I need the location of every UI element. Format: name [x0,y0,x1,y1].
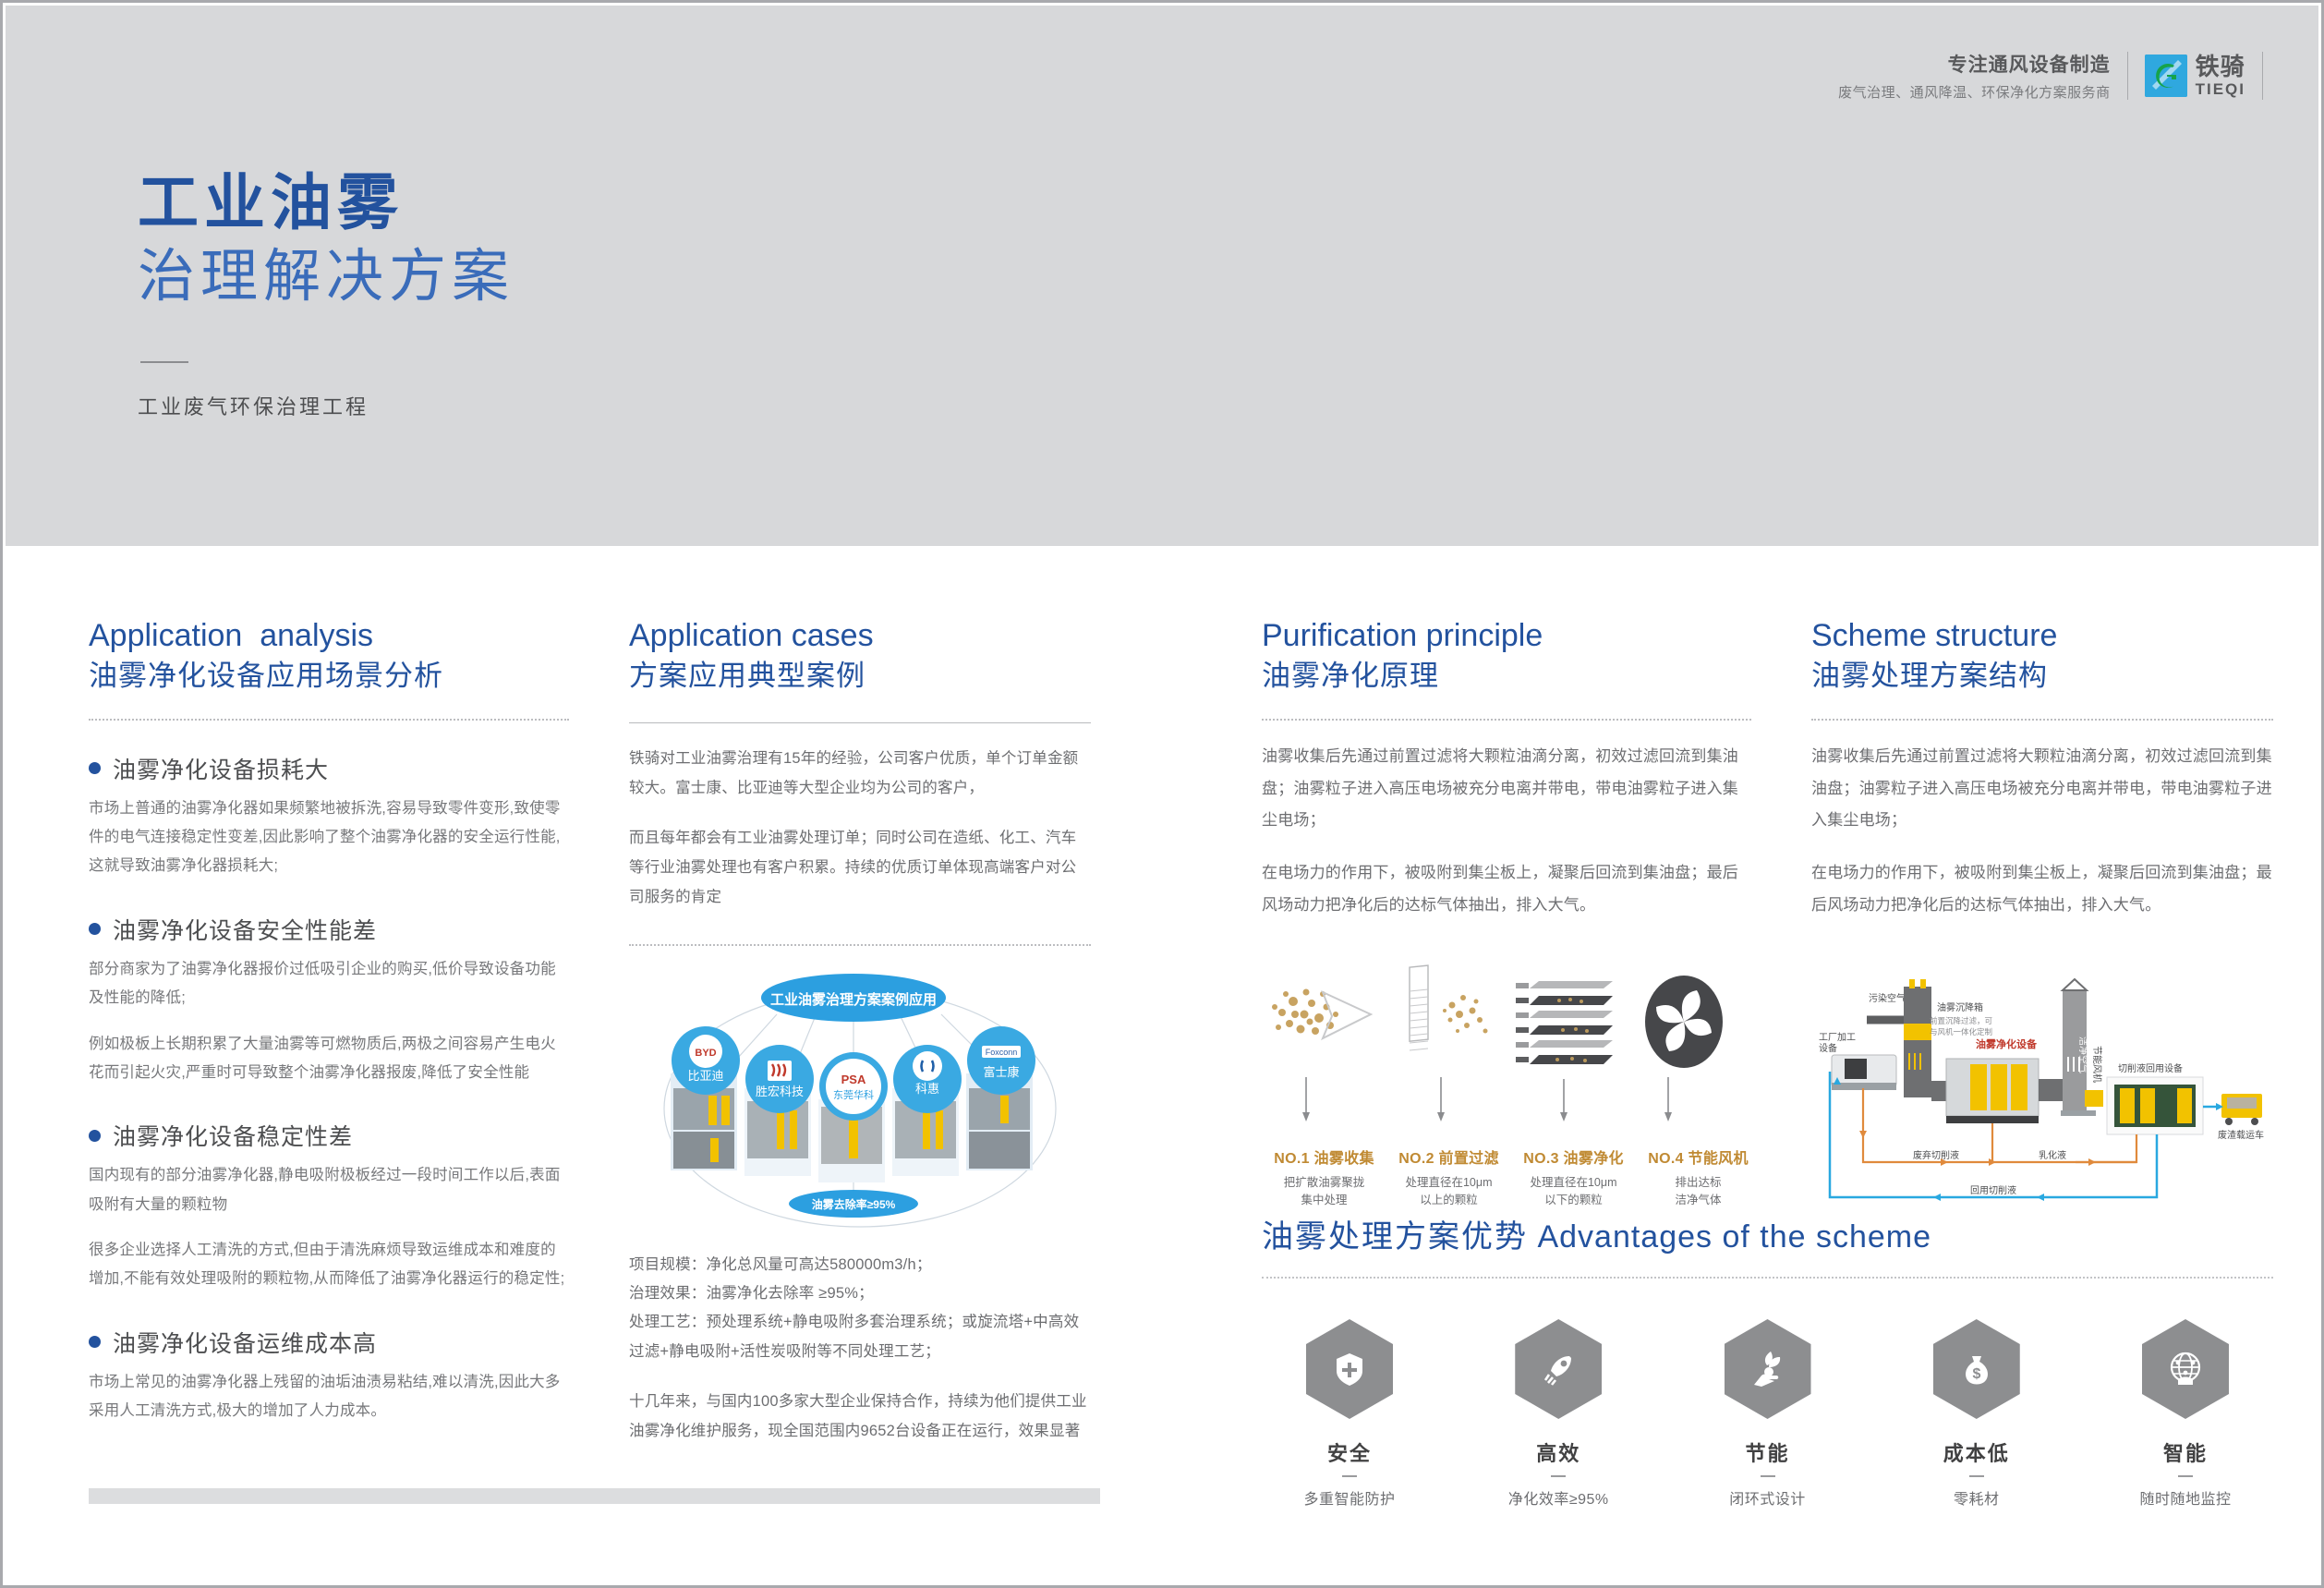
advantage-divider [1969,1475,1984,1477]
svg-text:节能风机: 节能风机 [2091,1046,2103,1083]
logo-name-cn: 铁骑 [2196,55,2245,79]
section2-heading: Application cases 方案应用典型案例 [629,546,1091,695]
advantage-hex-wrap [1262,1319,1437,1419]
bullet-paragraph: 部分商家为了油雾净化器报价过低吸引企业的购买,低价导致设备功能及性能的降低; [89,955,569,1013]
advantage-hex-wrap [2098,1319,2273,1419]
brand-tagline-main: 专注通风设备制造 [1838,50,2111,78]
section1-title-cn: 油雾净化设备应用场景分析 [89,658,569,695]
case-closing-paragraph: 十几年来，与国内100多家大型企业保持合作，持续为他们提供工业油雾净化维护服务，… [629,1387,1091,1446]
case-spec-line: 治理效果：油雾净化去除率 ≥95%； [629,1279,1091,1308]
cases-intro-paragraph: 而且每年都会有工业油雾处理订单；同时公司在造纸、化工、汽车等行业油雾处理也有客户… [629,823,1091,913]
step-label: NO.4 节能风机 排出达标 洁净气体 [1636,1146,1761,1210]
advantages-list: 安全 多重智能防护 高效 [1262,1319,2273,1509]
advantages-title-en: Advantages of the scheme [1537,1219,1931,1255]
mist-cloud [1272,989,1371,1039]
svg-text:油雾沉降箱: 油雾沉降箱 [1937,1001,1983,1013]
advantage-divider [1342,1475,1357,1477]
svg-text:富士康: 富士康 [983,1065,1019,1079]
company-logo: 铁骑 TIEQI [2145,55,2245,97]
step-desc-line: 排出达标 [1636,1174,1761,1192]
svg-text:油雾净化设备: 油雾净化设备 [1976,1037,2038,1050]
section3-heading: Purification principle 油雾净化原理 [1262,546,1751,695]
tieqi-logo-icon [2145,55,2187,97]
section-application-analysis: Application analysis 油雾净化设备应用场景分析 油雾净化设备… [89,546,569,1425]
scheme-flow-diagram: 污染空气 工厂加工 设备 [1811,953,2273,1207]
svg-text:回用切削液: 回用切削液 [1970,1184,2016,1196]
case-circle-diagram: 工业油雾治理方案案例应用 BYD 比亚迪 胜宏科技 PSA 东莞华科 [629,970,1091,1238]
section3-title-en: Purification principle [1262,616,1751,656]
bullet-dot-icon [89,1336,101,1348]
bullet-dot-icon [89,762,101,774]
analysis-bullet: 油雾净化设备安全性能差 部分商家为了油雾净化器报价过低吸引企业的购买,低价导致设… [89,913,569,1087]
advantage-hex [1306,1319,1393,1419]
advantage-item: 节能 闭环式设计 [1680,1319,1856,1509]
step-label: NO.2 前置过滤 处理直径在10μm 以上的颗粒 [1386,1146,1511,1210]
section2-title-en: Application cases [629,616,1091,656]
svg-text:BYD: BYD [695,1048,716,1059]
bullet-paragraph: 很多企业选择人工清洗的方式,但由于清洗麻烦导致运维成本和难度的增加,不能有效处理… [89,1236,569,1294]
shield-plus-icon [1329,1349,1370,1389]
advantage-hex [1515,1319,1602,1419]
advantage-hex-wrap: $ [1889,1319,2064,1419]
svg-text:科惠: 科惠 [915,1082,939,1096]
advantage-divider [2178,1475,2193,1477]
svg-text:PSA: PSA [841,1073,866,1086]
step-desc-line: 以下的颗粒 [1511,1192,1636,1209]
brand-tagline: 专注通风设备制造 废气治理、通风降温、环保净化方案服务商 [1838,50,2111,102]
poster-page: 专注通风设备制造 废气治理、通风降温、环保净化方案服务商 铁骑 TIEQI [0,0,2324,1588]
svg-text:乳化液: 乳化液 [2039,1149,2066,1161]
svg-text:废弃切削液: 废弃切削液 [1913,1149,1959,1161]
brand-block: 专注通风设备制造 废气治理、通风降温、环保净化方案服务商 铁骑 TIEQI [1838,50,2263,102]
bullet-paragraph: 市场上普通的油雾净化器如果频繁地被拆洗,容易导致零件变形,致使零件的电气连接稳定… [89,794,569,881]
hero-subtitle: 工业废气环保治理工程 [138,391,514,420]
section1-title-en: Application analysis [89,616,569,656]
advantage-divider [1761,1475,1775,1477]
svg-text:胜宏科技: 胜宏科技 [756,1085,804,1098]
cases-intro-paragraph: 铁骑对工业油雾治理有15年的经验，公司客户优质，单个订单金额较大。富士康、比亚迪… [629,744,1091,803]
bullet-title: 油雾净化设备运维成本高 [113,1326,377,1359]
case-spec-line: 项目规模：净化总风量可高达580000m3/h； [629,1251,1091,1279]
content-area: Application analysis 油雾净化设备应用场景分析 油雾净化设备… [6,546,2318,1582]
step-description: 处理直径在10μm 以上的颗粒 [1386,1174,1511,1210]
hero-divider [140,361,188,363]
principle-step-labels: NO.1 油雾收集 把扩散油雾聚拢 集中处理 NO.2 前置过滤 处理直径在10… [1262,1146,1761,1210]
advantage-hex [1725,1319,1811,1419]
advantage-item: $ 成本低 零耗材 [1889,1319,2064,1509]
brand-tagline-sub: 废气治理、通风降温、环保净化方案服务商 [1838,82,2111,102]
collector-plates [1516,981,1613,1064]
step-label: NO.3 油雾净化 处理直径在10μm 以下的颗粒 [1511,1146,1636,1210]
hero-title-line1: 工业油雾 [138,167,514,239]
logo-name-en: TIEQI [2196,81,2245,97]
svg-text:与风机一体化定制: 与风机一体化定制 [1930,1027,1992,1036]
bullet-paragraph: 国内现有的部分油雾净化器,静电吸附极板经过一段时间工作以后,表面吸附有大量的颗粒… [89,1161,569,1219]
advantage-name: 安全 [1262,1437,1437,1467]
advantage-desc: 闭环式设计 [1680,1486,1856,1509]
principle-paragraph: 在电场力的作用下，被吸附到集尘板上，凝聚后回流到集油盘；最后风场动力把净化后的达… [1262,857,1751,922]
section2-rule-2 [629,944,1091,946]
section4-title-en: Scheme structure [1811,616,2273,656]
section2-rule [629,722,1091,723]
advantage-name: 智能 [2098,1437,2273,1467]
bottom-accent-bar [89,1488,1100,1504]
step-number: NO.3 油雾净化 [1511,1146,1636,1168]
bullet-title: 油雾净化设备安全性能差 [113,913,377,946]
advantage-hex: $ [1933,1319,2020,1419]
advantage-name: 节能 [1680,1437,1856,1467]
svg-text:东莞华科: 东莞华科 [833,1088,874,1101]
svg-text:废渣载运车: 废渣载运车 [2218,1129,2264,1141]
advantage-hex [2142,1319,2229,1419]
analysis-bullet: 油雾净化设备运维成本高 市场上常见的油雾净化器上残留的油垢油渍易粘结,难以清洗,… [89,1326,569,1426]
brand-divider-right [2262,52,2263,100]
advantage-desc: 多重智能防护 [1262,1486,1437,1509]
step-number: NO.2 前置过滤 [1386,1146,1511,1168]
advantage-desc: 零耗材 [1889,1486,2064,1509]
bullet-title: 油雾净化设备损耗大 [113,752,329,785]
advantages-title-cn: 油雾处理方案优势 [1262,1219,1528,1255]
logo-wordmark: 铁骑 TIEQI [2196,55,2245,97]
svg-text:切削液回用设备: 切削液回用设备 [2118,1062,2183,1074]
step-number: NO.4 节能风机 [1636,1146,1761,1168]
case-spec-line: 处理工艺：预处理系统+静电吸附多套治理系统；或旋流塔+中高效过滤+静电吸附+活性… [629,1308,1091,1366]
hero-title-line2: 治理解决方案 [138,243,514,311]
advantage-name: 成本低 [1889,1437,2064,1467]
leaf-hand-icon [1747,1348,1789,1390]
bullet-paragraph: 例如极板上长期积累了大量油雾等可燃物质后,两极之间容易产生电火花而引起火灾,严重… [89,1030,569,1088]
hero-title-block: 工业油雾 治理解决方案 工业废气环保治理工程 [138,167,514,420]
bullet-header: 油雾净化设备运维成本高 [89,1326,569,1359]
scheme-paragraph: 在电场力的作用下，被吸附到集尘板上，凝聚后回流到集油盘；最后风场动力把净化后的达… [1811,857,2273,922]
step-description: 排出达标 洁净气体 [1636,1174,1761,1210]
advantage-item: 高效 净化效率≥95% [1471,1319,1646,1509]
bullet-paragraph: 市场上常见的油雾净化器上残留的油垢油渍易粘结,难以清洗,因此大多采用人工清洗方式… [89,1368,569,1426]
step-label: NO.1 油雾收集 把扩散油雾聚拢 集中处理 [1262,1146,1386,1210]
header-band: 专注通风设备制造 废气治理、通风降温、环保净化方案服务商 铁骑 TIEQI [6,6,2318,546]
svg-text:工厂加工: 工厂加工 [1819,1032,1856,1043]
step-desc-line: 以上的颗粒 [1386,1192,1511,1209]
globe-network-icon [2164,1348,2207,1390]
section2-title-cn: 方案应用典型案例 [629,658,1091,695]
money-bag-icon: $ [1956,1349,1997,1389]
bullet-header: 油雾净化设备损耗大 [89,752,569,785]
scheme-paragraph: 油雾收集后先通过前置过滤将大颗粒油滴分离，初效过滤回流到集油盘；油雾粒子进入高压… [1811,741,2273,838]
brand-divider [2127,52,2128,100]
section1-heading: Application analysis 油雾净化设备应用场景分析 [89,546,569,695]
advantage-desc: 随时随地监控 [2098,1486,2273,1509]
bullet-header: 油雾净化设备稳定性差 [89,1119,569,1152]
advantage-item: 安全 多重智能防护 [1262,1319,1437,1509]
svg-text:设备: 设备 [1819,1042,1837,1054]
section1-rule [89,719,569,721]
section-scheme-structure: Scheme structure 油雾处理方案结构 油雾收集后先通过前置过滤将大… [1811,546,2273,1207]
energy-fan [1645,976,1723,1068]
section-application-cases: Application cases 方案应用典型案例 铁骑对工业油雾治理有15年… [629,546,1091,1446]
section3-title-cn: 油雾净化原理 [1262,658,1751,695]
advantage-name: 高效 [1471,1437,1646,1467]
section4-heading: Scheme structure 油雾处理方案结构 [1811,546,2273,695]
svg-text:污染空气: 污染空气 [1869,992,1906,1004]
section-advantages: 油雾处理方案优势 Advantages of the scheme [1262,1211,2273,1509]
advantage-hex-wrap [1471,1319,1646,1419]
step-desc-line: 处理直径在10μm [1511,1174,1636,1192]
principle-paragraph: 油雾收集后先通过前置过滤将大颗粒油滴分离，初效过滤回流到集油盘；油雾粒子进入高压… [1262,741,1751,838]
svg-text:油雾去除率≥95%: 油雾去除率≥95% [812,1197,896,1211]
section4-rule [1811,719,2273,721]
prefilter-panel [1410,965,1488,1050]
step-description: 把扩散油雾聚拢 集中处理 [1262,1174,1386,1210]
advantage-hex-wrap [1680,1319,1856,1419]
rocket-icon [1538,1349,1579,1389]
advantages-title: 油雾处理方案优势 Advantages of the scheme [1262,1211,2273,1256]
case-specs: 项目规模：净化总风量可高达580000m3/h； 治理效果：油雾净化去除率 ≥9… [629,1251,1091,1366]
advantage-divider [1551,1475,1566,1477]
bullet-header: 油雾净化设备安全性能差 [89,913,569,946]
step-desc-line: 处理直径在10μm [1386,1174,1511,1192]
step-desc-line: 把扩散油雾聚拢 [1262,1174,1386,1192]
bullet-dot-icon [89,1130,101,1142]
svg-text:前置沉降过滤，可: 前置沉降过滤，可 [1930,1016,1993,1025]
analysis-bullet: 油雾净化设备稳定性差 国内现有的部分油雾净化器,静电吸附极板经过一段时间工作以后… [89,1119,569,1293]
advantage-item: 智能 随时随地监控 [2098,1319,2273,1509]
analysis-bullet: 油雾净化设备损耗大 市场上普通的油雾净化器如果频繁地被拆洗,容易导致零件变形,致… [89,752,569,881]
step-number: NO.1 油雾收集 [1262,1146,1386,1168]
bullet-title: 油雾净化设备稳定性差 [113,1119,353,1152]
svg-text:比亚迪: 比亚迪 [687,1069,723,1083]
advantage-desc: 净化效率≥95% [1471,1486,1646,1509]
svg-text:工业油雾治理方案案例应用: 工业油雾治理方案案例应用 [770,991,937,1008]
bullet-dot-icon [89,923,101,935]
step-description: 处理直径在10μm 以下的颗粒 [1511,1174,1636,1210]
section-purification-principle: Purification principle 油雾净化原理 油雾收集后先通过前置… [1262,546,1751,1210]
step-desc-line: 集中处理 [1262,1192,1386,1209]
svg-text:$: $ [1972,1366,1980,1382]
section3-rule [1262,719,1751,721]
principle-step-figure [1262,957,1761,1142]
step-desc-line: 洁净气体 [1636,1192,1761,1209]
advantages-rule [1262,1277,2273,1279]
section4-title-cn: 油雾处理方案结构 [1811,658,2273,695]
svg-text:Foxconn: Foxconn [986,1048,1018,1057]
